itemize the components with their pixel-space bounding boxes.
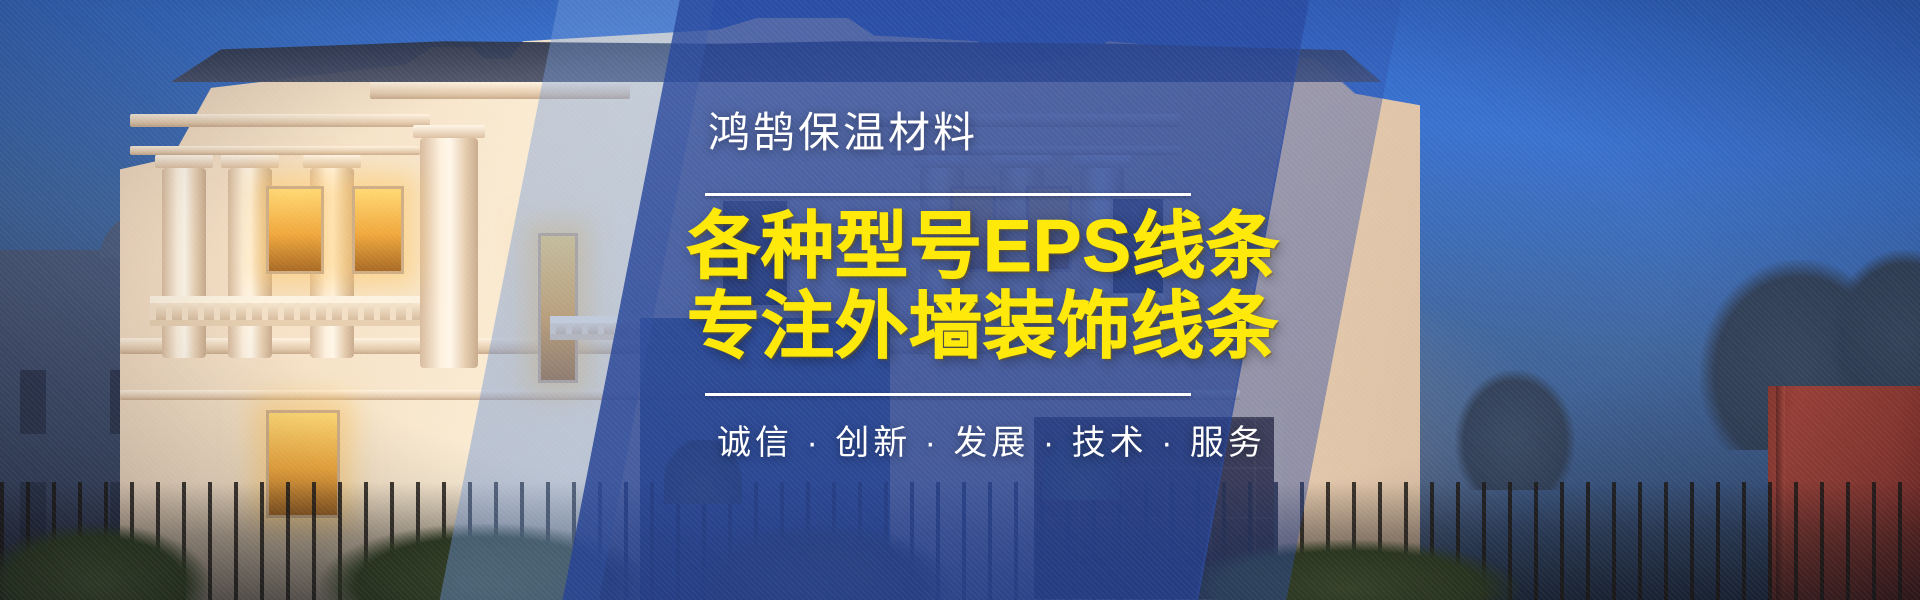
villa-column bbox=[162, 168, 206, 358]
lit-window bbox=[266, 186, 324, 274]
shrub-hedge bbox=[0, 524, 210, 600]
villa-cornice bbox=[130, 146, 420, 155]
lit-window bbox=[352, 186, 404, 274]
balustrade bbox=[150, 296, 420, 326]
tree-silhouette bbox=[1830, 250, 1920, 400]
banner-copy: 鸿鹄保温材料 各种型号EPS线条 专注外墙装饰线条 诚信 · 创新 · 发展 ·… bbox=[705, 0, 1265, 600]
divider-bottom bbox=[705, 393, 1191, 396]
tagline: 诚信 · 创新 · 发展 · 技术 · 服务 bbox=[717, 415, 1266, 464]
headline-line-2: 专注外墙装饰线条 bbox=[687, 288, 1279, 366]
hero-banner: 鸿鹄保温材料 各种型号EPS线条 专注外墙装饰线条 诚信 · 创新 · 发展 ·… bbox=[0, 0, 1920, 600]
villa-cornice bbox=[130, 114, 430, 127]
villa-column bbox=[420, 138, 478, 368]
company-name: 鸿鹄保温材料 bbox=[708, 110, 978, 156]
bg-window bbox=[20, 370, 46, 434]
tree-silhouette bbox=[1455, 370, 1575, 490]
headline-line-1: 各种型号EPS线条 bbox=[687, 208, 1280, 286]
divider-top bbox=[705, 193, 1191, 196]
